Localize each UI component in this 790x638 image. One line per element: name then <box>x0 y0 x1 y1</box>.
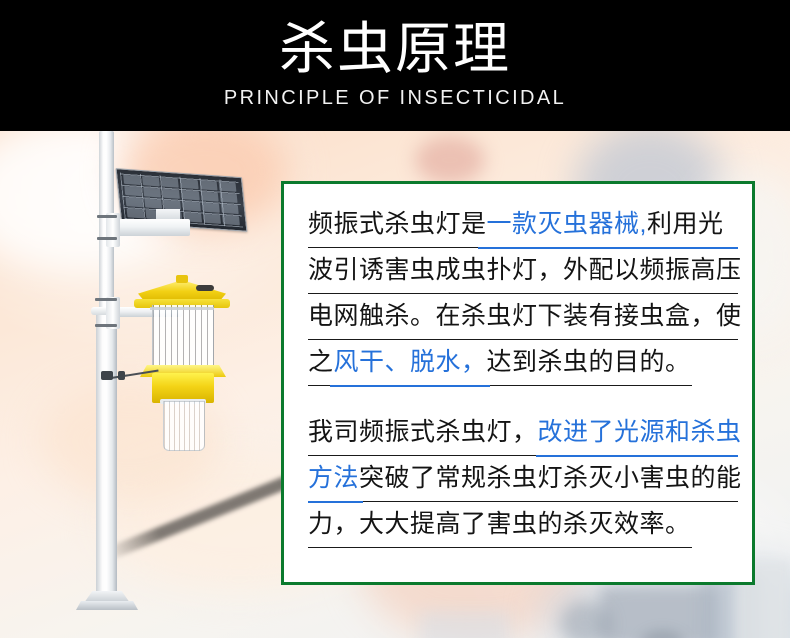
collection-cup <box>163 401 205 451</box>
text-line: 频振式杀虫灯是一款灭虫器械,利用光 <box>308 202 734 247</box>
blurred-machinery-shape <box>560 601 610 638</box>
frequency-vibration-grid-tubes <box>152 305 214 375</box>
underline-rule <box>308 547 692 548</box>
page-header: 杀虫原理 PRINCIPLE OF INSECTICIDAL <box>0 0 790 131</box>
blurred-machinery-shape <box>420 611 510 638</box>
lamp-canopy-cap <box>176 275 188 283</box>
card-content: 频振式杀虫灯是一款灭虫器械,利用光 波引诱害虫成虫扑灯，外配以频振高压 电网触杀… <box>308 202 734 548</box>
page-subtitle: PRINCIPLE OF INSECTICIDAL <box>0 86 790 110</box>
text-segment: 突破了常规杀虫灯杀灭小害虫的能 <box>359 464 742 492</box>
underline-rule <box>308 385 692 386</box>
text-line: 方法突破了常规杀虫灯杀灭小害虫的能 <box>308 456 734 501</box>
text-segment: 利用光 <box>647 210 724 238</box>
text-line: 力，大大提高了害虫的杀灭效率。 <box>308 502 734 547</box>
text-segment: 之 <box>308 348 334 376</box>
pole-clamp <box>95 298 117 301</box>
highlight-segment: 风干、脱水， <box>334 348 487 376</box>
paragraph-2: 我司频振式杀虫灯，改进了光源和杀虫 方法突破了常规杀虫灯杀灭小害虫的能 力，大大… <box>308 410 734 548</box>
text-segment: 频振式杀虫灯是 <box>308 210 487 238</box>
upper-arm-bracket <box>106 213 120 247</box>
highlight-segment: 方法 <box>308 464 359 492</box>
background-pink-blob <box>415 136 485 184</box>
text-line: 我司频振式杀虫灯，改进了光源和杀虫 <box>308 410 734 455</box>
tube-ring <box>150 307 214 310</box>
insecticidal-principle-page: 杀虫原理 PRINCIPLE OF INSECTICIDAL <box>0 0 790 638</box>
text-segment: 电网触杀。在杀虫灯下装有接虫盒，使 <box>308 302 742 330</box>
paragraph-1: 频振式杀虫灯是一款灭虫器械,利用光 波引诱害虫成虫扑灯，外配以频振高压 电网触杀… <box>308 202 734 386</box>
pole-clamp <box>97 237 117 240</box>
text-segment: 我司频振式杀虫灯， <box>308 418 538 446</box>
pole-clamp <box>97 215 117 218</box>
pole-clamp <box>95 324 117 327</box>
text-line: 波引诱害虫成虫扑灯，外配以频振高压 <box>308 248 734 293</box>
cable-clip <box>101 371 113 380</box>
upper-support-arm <box>110 219 190 236</box>
text-line: 电网触杀。在杀虫灯下装有接虫盒，使 <box>308 294 734 339</box>
highlight-segment: 一款灭虫器械, <box>487 210 647 238</box>
principle-description-card: 频振式杀虫灯是一款灭虫器械,利用光 波引诱害虫成虫扑灯，外配以频振高压 电网触杀… <box>281 181 755 585</box>
pole-base-plate <box>76 601 138 610</box>
mounting-pole-lower <box>96 311 117 599</box>
lamp-canopy-bolt <box>196 285 214 291</box>
cable-clip <box>118 371 125 380</box>
text-segment: 波引诱害虫成虫扑灯，外配以频振高压 <box>308 256 742 284</box>
highlight-segment: 改进了光源和杀虫 <box>538 418 742 446</box>
solar-insecticidal-lamp-illustration <box>0 131 300 638</box>
text-segment: 力，大大提高了害虫的杀灭效率。 <box>308 510 691 538</box>
text-line: 之风干、脱水，达到杀虫的目的。 <box>308 340 734 385</box>
text-segment: 达到杀虫的目的。 <box>487 348 691 376</box>
page-title: 杀虫原理 <box>0 18 790 80</box>
solar-panel-cells <box>123 175 240 226</box>
